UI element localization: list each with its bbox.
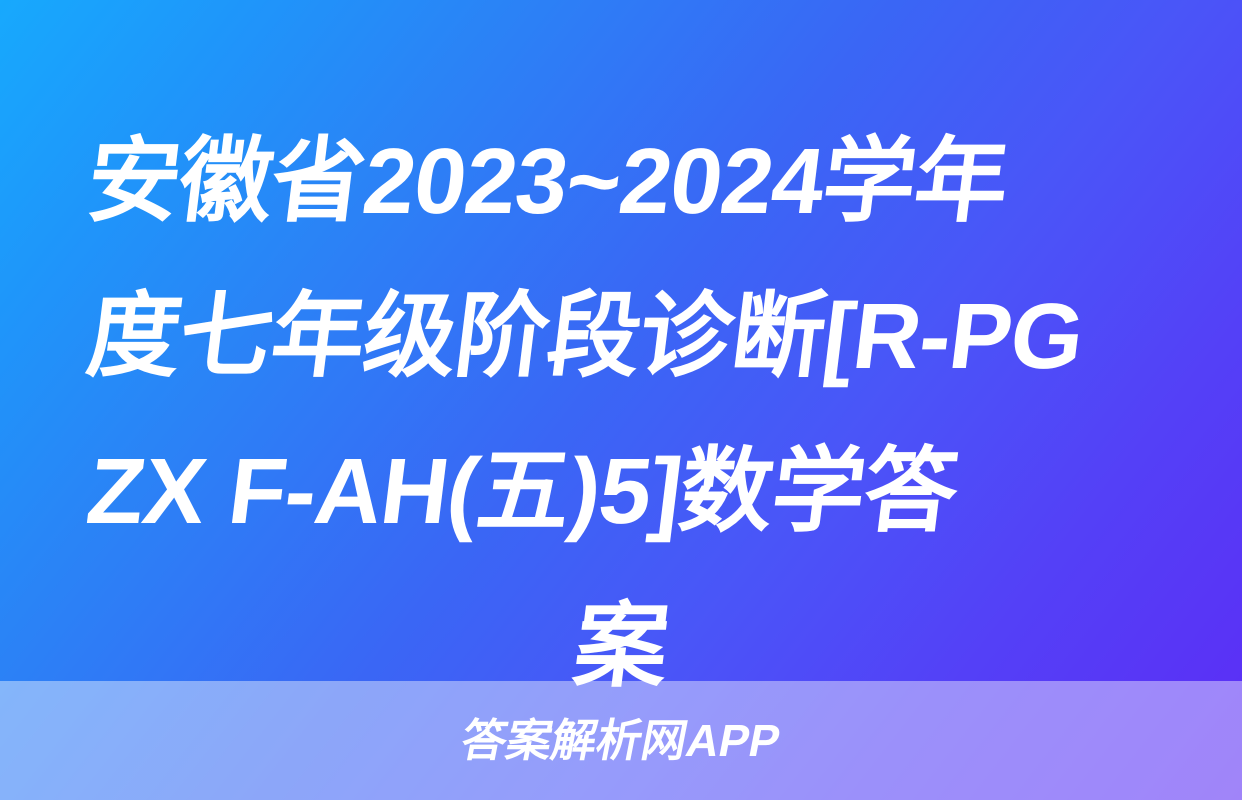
app-watermark-label: 答案解析网APP — [458, 718, 784, 763]
poster-canvas: 安徽省2023~2024学年 度七年级阶段诊断[R-PG ZX F-AH(五)5… — [0, 0, 1242, 800]
footer-watermark-bar: 答案解析网APP — [0, 681, 1242, 800]
title-line-3: ZX F-AH(五)5]数学答 — [78, 414, 1163, 569]
title-line-1: 安徽省2023~2024学年 — [78, 104, 1163, 259]
page-title: 安徽省2023~2024学年 度七年级阶段诊断[R-PG ZX F-AH(五)5… — [88, 104, 1154, 724]
title-line-2: 度七年级阶段诊断[R-PG — [78, 259, 1163, 414]
